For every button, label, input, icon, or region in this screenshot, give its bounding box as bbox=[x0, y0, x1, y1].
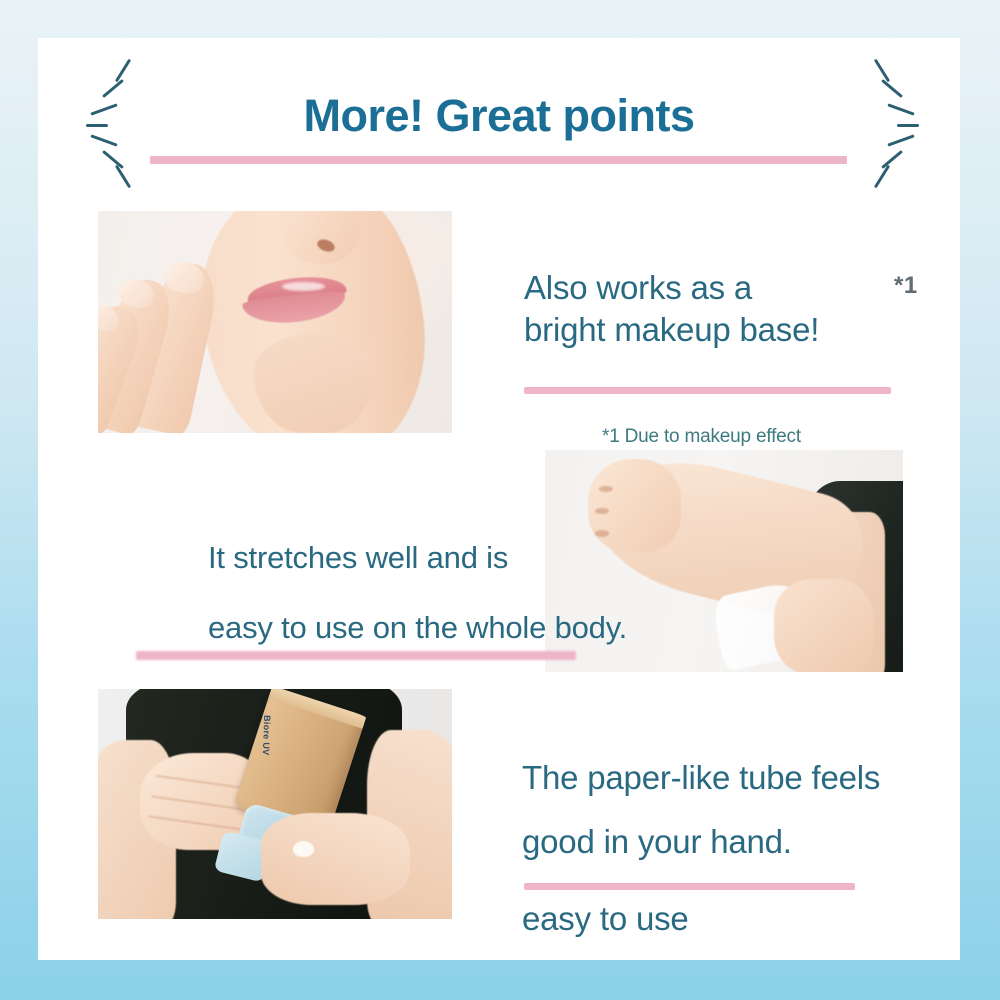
section3-line1: The paper-like tube feels bbox=[522, 757, 880, 799]
text-block-paper-tube: The paper-like tube feels good in your h… bbox=[522, 757, 880, 863]
sunburst-rays-icon-left bbox=[80, 65, 150, 185]
section3-line2: good in your hand. bbox=[522, 821, 880, 863]
page-header: More! Great points bbox=[38, 93, 960, 138]
product-label: Biore UV bbox=[259, 715, 272, 799]
section1-superscript: *1 bbox=[894, 272, 918, 300]
text-block-whole-body: It stretches well and is easy to use on … bbox=[208, 538, 627, 647]
section3-underline bbox=[524, 883, 855, 890]
sunburst-rays-icon-right bbox=[855, 65, 925, 185]
section1-underline bbox=[524, 387, 891, 394]
text-block-makeup-base: Also works as a bright makeup base! bbox=[524, 267, 819, 351]
infographic-card: More! Great points Also works as a bbox=[38, 38, 960, 960]
section3-line3: easy to use bbox=[522, 898, 689, 940]
section1-line2: bright makeup base! bbox=[524, 309, 819, 351]
section1-line1: Also works as a bbox=[524, 267, 819, 309]
section1-footnote: *1 Due to makeup effect bbox=[602, 426, 801, 448]
page-title: More! Great points bbox=[38, 93, 960, 138]
section2-line1: It stretches well and is bbox=[208, 538, 627, 578]
section2-line2: easy to use on the whole body. bbox=[208, 608, 627, 648]
title-underline bbox=[150, 156, 847, 164]
section2-underline bbox=[136, 651, 576, 660]
photo-woman-touching-cheek bbox=[98, 211, 452, 433]
photo-tube-in-hand: Biore UV bbox=[98, 689, 452, 919]
